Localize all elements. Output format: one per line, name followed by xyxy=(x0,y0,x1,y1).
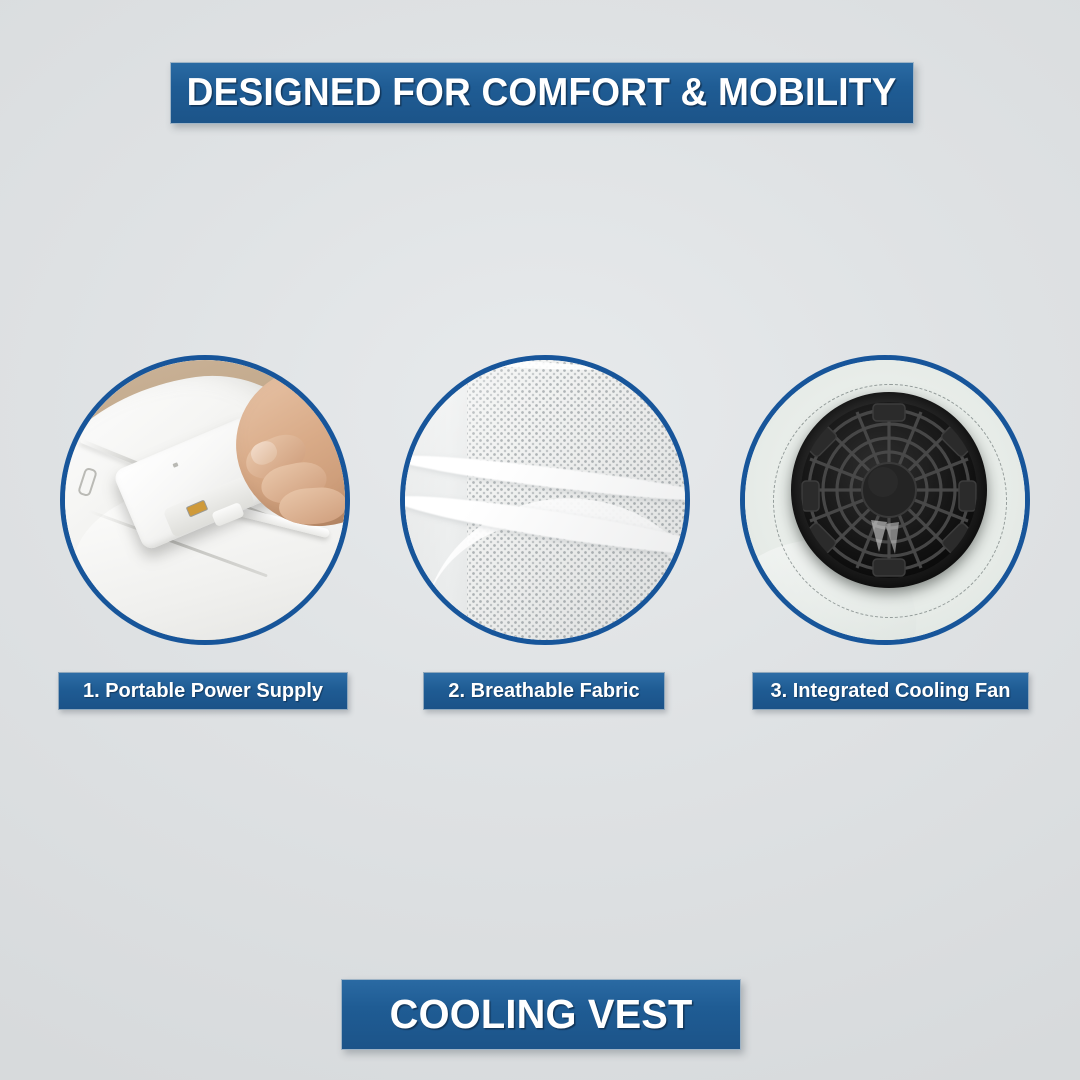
feature-item-breathable-fabric: 2. Breathable Fabric xyxy=(395,352,695,712)
breathable-mesh-fabric-photo xyxy=(405,360,685,640)
feature-3-caption-banner: 3. Integrated Cooling Fan xyxy=(752,672,1029,710)
feature-1-circle-frame xyxy=(60,355,350,645)
fabric-lighting-gradient xyxy=(405,360,685,640)
footer-banner: COOLING VEST xyxy=(341,979,741,1050)
feature-1-caption-label: 1. Portable Power Supply xyxy=(83,680,323,703)
fan-grille-icon xyxy=(801,402,977,578)
feature-row: 1. Portable Power Supply xyxy=(0,352,1080,712)
footer-title: COOLING VEST xyxy=(390,991,693,1038)
feature-3-caption-label: 3. Integrated Cooling Fan xyxy=(770,680,1010,703)
feature-2-circle-frame xyxy=(400,355,690,645)
feature-item-portable-power-supply: 1. Portable Power Supply xyxy=(55,352,355,712)
feature-3-circle-frame xyxy=(740,355,1030,645)
feature-1-caption-banner: 1. Portable Power Supply xyxy=(58,672,348,710)
header-title: DESIGNED FOR COMFORT & MOBILITY xyxy=(187,71,897,115)
integrated-cooling-fan-photo xyxy=(745,360,1025,640)
header-banner: DESIGNED FOR COMFORT & MOBILITY xyxy=(170,62,914,124)
feature-2-caption-banner: 2. Breathable Fabric xyxy=(423,672,665,710)
power-bank-on-vest-photo xyxy=(65,360,345,640)
infographic-page: DESIGNED FOR COMFORT & MOBILITY xyxy=(0,0,1080,1080)
feature-item-integrated-cooling-fan: 3. Integrated Cooling Fan xyxy=(735,352,1035,712)
feature-2-caption-label: 2. Breathable Fabric xyxy=(448,680,639,703)
